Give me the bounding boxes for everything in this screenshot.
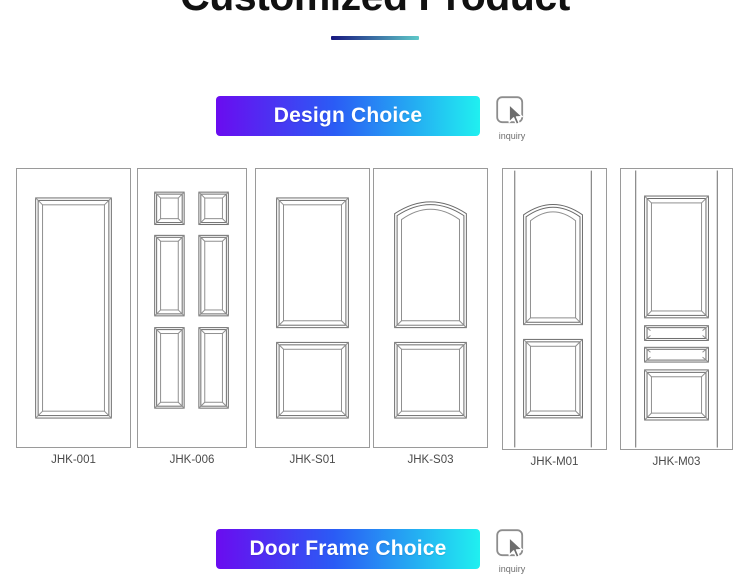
door-thumbnail-jhk-m01 xyxy=(502,168,607,450)
inquiry-label: inquiry xyxy=(499,564,526,574)
page-header: Customized Product xyxy=(0,0,750,40)
door-caption: JHK-006 xyxy=(170,454,215,466)
inquiry-label: inquiry xyxy=(499,131,526,141)
page-title: Customized Product xyxy=(0,0,750,22)
design-choice-button[interactable]: Design Choice xyxy=(216,96,480,136)
door-thumbnail-jhk-006 xyxy=(137,168,247,448)
door-frame-choice-section-header: Door Frame Choice inquiry xyxy=(0,529,750,574)
door-caption: JHK-M03 xyxy=(653,456,701,468)
door-card-jhk-s03[interactable]: JHK-S03 xyxy=(373,168,488,466)
door-thumbnail-jhk-m03 xyxy=(620,168,733,450)
door-frame-choice-button[interactable]: Door Frame Choice xyxy=(216,529,480,569)
cursor-pointer-icon xyxy=(496,96,528,130)
title-underline-accent xyxy=(331,36,419,40)
door-caption: JHK-S01 xyxy=(289,454,335,466)
door-card-jhk-m03[interactable]: JHK-M03 xyxy=(620,168,733,468)
inquiry-button-design[interactable]: inquiry xyxy=(490,96,534,141)
door-card-jhk-m01[interactable]: JHK-M01 xyxy=(502,168,607,468)
door-card-jhk-001[interactable]: JHK-001 xyxy=(16,168,131,466)
door-caption: JHK-M01 xyxy=(531,456,579,468)
door-caption: JHK-001 xyxy=(51,454,96,466)
door-card-jhk-006[interactable]: JHK-006 xyxy=(137,168,247,466)
door-caption: JHK-S03 xyxy=(407,454,453,466)
customized-product-page: Customized Product Design Choice inquiry xyxy=(0,0,750,577)
inquiry-button-frame[interactable]: inquiry xyxy=(490,529,534,574)
design-choice-section-header: Design Choice inquiry xyxy=(0,96,750,141)
door-thumbnail-jhk-s03 xyxy=(373,168,488,448)
door-thumbnail-jhk-s01 xyxy=(255,168,370,448)
door-thumbnail-jhk-001 xyxy=(16,168,131,448)
door-design-gallery: JHK-001 xyxy=(0,168,750,478)
cursor-pointer-icon xyxy=(496,529,528,563)
door-card-jhk-s01[interactable]: JHK-S01 xyxy=(255,168,370,466)
